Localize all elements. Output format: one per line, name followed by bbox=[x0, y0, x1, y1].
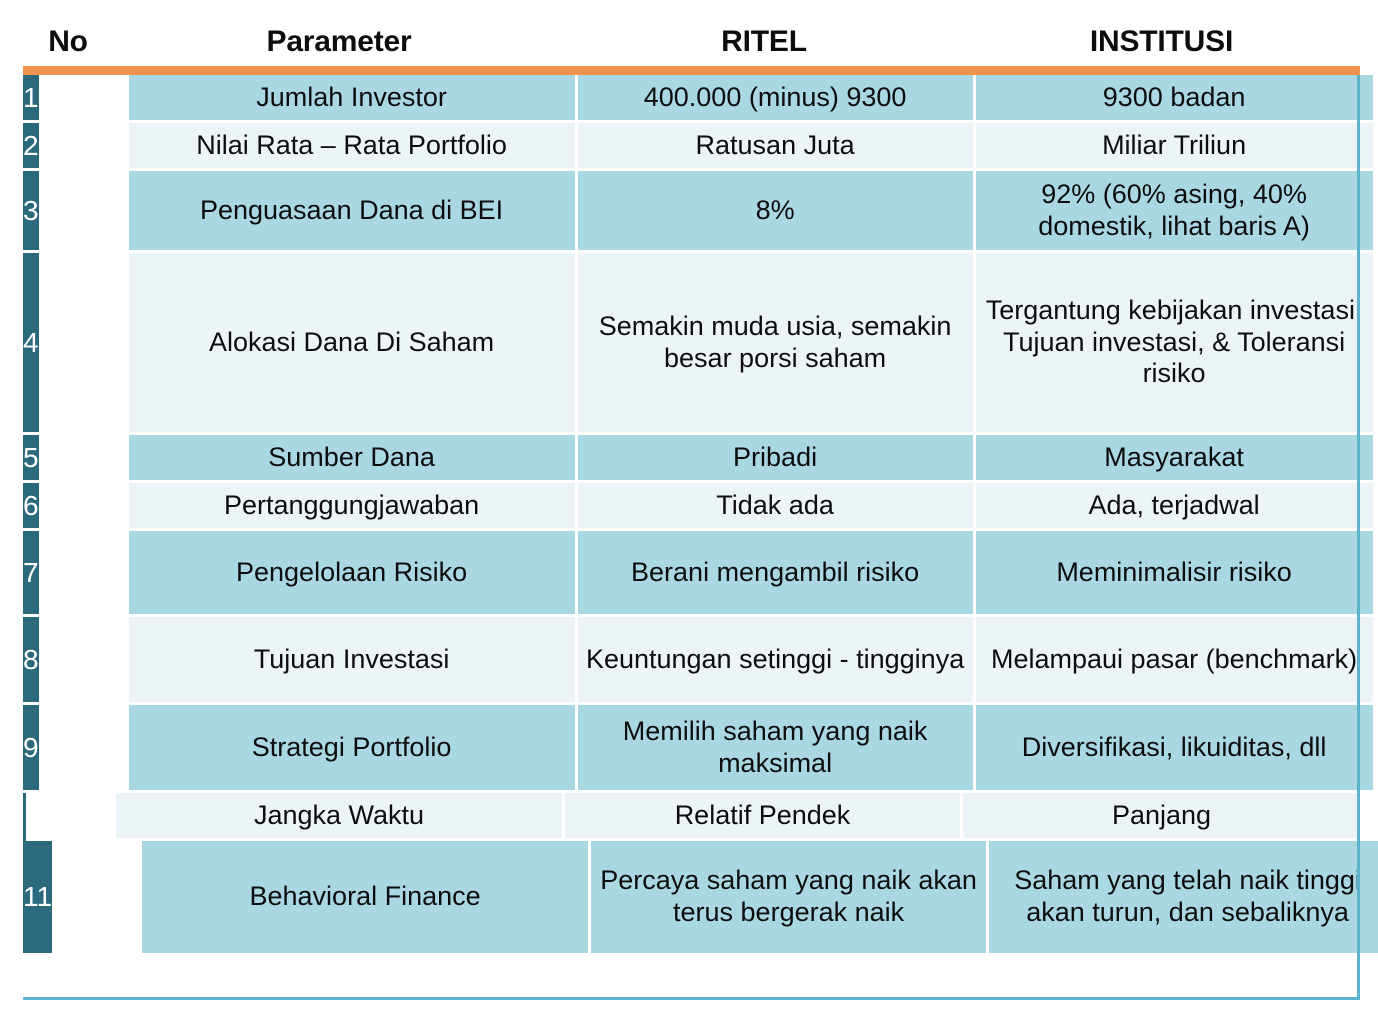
table-row: 3Penguasaan Dana di BEI8%92% (60% asing,… bbox=[23, 171, 1360, 253]
parameter-cell: Strategi Portfolio bbox=[129, 705, 578, 793]
parameter-cell: Pertanggungjawaban bbox=[129, 483, 578, 531]
column-header-no: No bbox=[23, 27, 113, 57]
row-content: Penguasaan Dana di BEI8%92% (60% asing, … bbox=[129, 171, 1373, 253]
row-number-cell: 2 bbox=[23, 123, 39, 171]
row-number-cell: 7 bbox=[23, 531, 39, 617]
row-content: Jumlah Investor400.000 (minus) 93009300 … bbox=[129, 75, 1373, 123]
ritel-cell: Semakin muda usia, semakin besar porsi s… bbox=[578, 253, 976, 435]
table-row: Jangka WaktuRelatif PendekPanjang bbox=[23, 793, 1360, 841]
institusi-cell: Saham yang telah naik tinggi akan turun,… bbox=[989, 841, 1378, 956]
ritel-cell: Relatif Pendek bbox=[565, 793, 963, 841]
parameter-cell: Pengelolaan Risiko bbox=[129, 531, 578, 617]
row-content: Behavioral FinancePercaya saham yang nai… bbox=[142, 841, 1378, 956]
row-content: Jangka WaktuRelatif PendekPanjang bbox=[116, 793, 1360, 841]
ritel-cell: Pribadi bbox=[578, 435, 976, 483]
institusi-cell: Diversifikasi, likuiditas, dll bbox=[976, 705, 1373, 793]
table-row: 5Sumber DanaPribadiMasyarakat bbox=[23, 435, 1360, 483]
institusi-cell: Panjang bbox=[963, 793, 1360, 841]
row-number-cell: 11 bbox=[23, 841, 52, 956]
table-right-border bbox=[1357, 75, 1360, 1000]
institusi-cell: Ada, terjadwal bbox=[976, 483, 1373, 531]
parameter-cell: Jangka Waktu bbox=[116, 793, 565, 841]
table-row: 11Behavioral FinancePercaya saham yang n… bbox=[23, 841, 1360, 956]
institusi-cell: 9300 badan bbox=[976, 75, 1373, 123]
row-number-cell: 6 bbox=[23, 483, 39, 531]
header-accent-rule bbox=[23, 66, 1360, 75]
row-number-cell: 8 bbox=[23, 617, 39, 705]
row-number-cell: 3 bbox=[23, 171, 39, 253]
table-body: 1Jumlah Investor400.000 (minus) 93009300… bbox=[23, 75, 1360, 956]
ritel-cell: Ratusan Juta bbox=[578, 123, 976, 171]
row-content: Pengelolaan RisikoBerani mengambil risik… bbox=[129, 531, 1373, 617]
ritel-cell: Tidak ada bbox=[578, 483, 976, 531]
table-row: 4Alokasi Dana Di SahamSemakin muda usia,… bbox=[23, 253, 1360, 435]
row-number-cell: 5 bbox=[23, 435, 39, 483]
ritel-cell: Keuntungan setinggi - tingginya bbox=[578, 617, 976, 705]
row-content: PertanggungjawabanTidak adaAda, terjadwa… bbox=[129, 483, 1373, 531]
parameter-cell: Sumber Dana bbox=[129, 435, 578, 483]
table-row: 7Pengelolaan RisikoBerani mengambil risi… bbox=[23, 531, 1360, 617]
row-number-cell bbox=[23, 793, 26, 841]
parameter-cell: Alokasi Dana Di Saham bbox=[129, 253, 578, 435]
table-row: 2Nilai Rata – Rata PortfolioRatusan Juta… bbox=[23, 123, 1360, 171]
parameter-cell: Jumlah Investor bbox=[129, 75, 578, 123]
row-content: Sumber DanaPribadiMasyarakat bbox=[129, 435, 1373, 483]
ritel-cell: Berani mengambil risiko bbox=[578, 531, 976, 617]
ritel-cell: Memilih saham yang naik maksimal bbox=[578, 705, 976, 793]
table-row: 6PertanggungjawabanTidak adaAda, terjadw… bbox=[23, 483, 1360, 531]
ritel-cell: Percaya saham yang naik akan terus berge… bbox=[591, 841, 989, 956]
column-header-parameter: Parameter bbox=[113, 27, 565, 57]
institusi-cell: 92% (60% asing, 40% domestik, lihat bari… bbox=[976, 171, 1373, 253]
institusi-cell: Melampaui pasar (benchmark) bbox=[976, 617, 1373, 705]
ritel-cell: 400.000 (minus) 9300 bbox=[578, 75, 976, 123]
institusi-cell: Masyarakat bbox=[976, 435, 1373, 483]
table-bottom-border bbox=[23, 997, 1360, 1000]
table-row: 9Strategi PortfolioMemilih saham yang na… bbox=[23, 705, 1360, 793]
row-number-cell: 1 bbox=[23, 75, 39, 123]
parameter-cell: Behavioral Finance bbox=[142, 841, 591, 956]
row-content: Strategi PortfolioMemilih saham yang nai… bbox=[129, 705, 1373, 793]
table-row: 8Tujuan InvestasiKeuntungan setinggi - t… bbox=[23, 617, 1360, 705]
row-content: Alokasi Dana Di SahamSemakin muda usia, … bbox=[129, 253, 1373, 435]
table-row: 1Jumlah Investor400.000 (minus) 93009300… bbox=[23, 75, 1360, 123]
institusi-cell: Meminimalisir risiko bbox=[976, 531, 1373, 617]
table-header-row: No Parameter RITEL INSTITUSI bbox=[23, 18, 1360, 66]
institusi-cell: Tergantung kebijakan investasi, Tujuan i… bbox=[976, 253, 1373, 435]
parameter-cell: Tujuan Investasi bbox=[129, 617, 578, 705]
row-number-cell: 9 bbox=[23, 705, 39, 793]
parameter-cell: Penguasaan Dana di BEI bbox=[129, 171, 578, 253]
row-content: Nilai Rata – Rata PortfolioRatusan JutaM… bbox=[129, 123, 1373, 171]
column-header-institusi: INSTITUSI bbox=[963, 27, 1360, 57]
comparison-table-slide: No Parameter RITEL INSTITUSI 1Jumlah Inv… bbox=[0, 0, 1378, 1028]
column-header-ritel: RITEL bbox=[565, 27, 963, 57]
institusi-cell: Miliar Triliun bbox=[976, 123, 1373, 171]
row-number-cell: 4 bbox=[23, 253, 39, 435]
ritel-cell: 8% bbox=[578, 171, 976, 253]
parameter-cell: Nilai Rata – Rata Portfolio bbox=[129, 123, 578, 171]
row-content: Tujuan InvestasiKeuntungan setinggi - ti… bbox=[129, 617, 1373, 705]
